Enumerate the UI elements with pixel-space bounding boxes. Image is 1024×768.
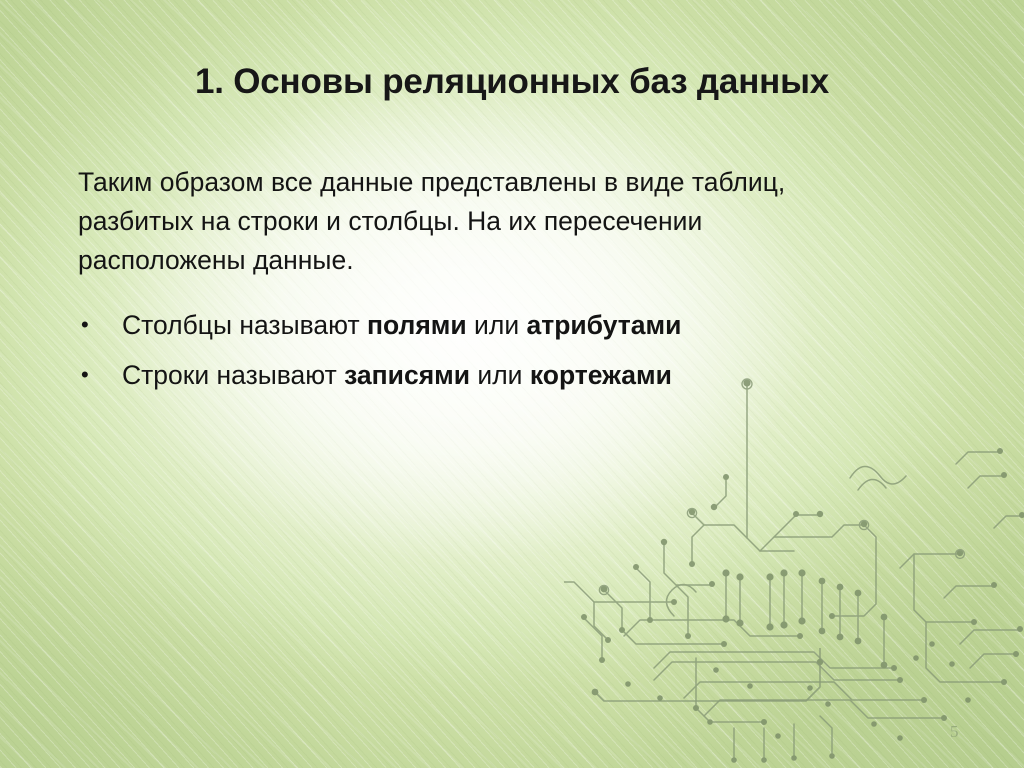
presentation-slide: 1. Основы реляционных баз данных Таким о…	[0, 0, 1024, 768]
body-paragraph: Таким образом все данные представлены в …	[78, 163, 868, 280]
circuit-board-graphic	[564, 368, 1024, 768]
bullet-marker-icon: •	[81, 300, 89, 350]
bullet-item-text: Строки называют записями или кортежами	[122, 360, 672, 390]
slide-title: 1. Основы реляционных баз данных	[64, 62, 960, 102]
slide-body: Таким образом все данные представлены в …	[78, 163, 948, 287]
bullet-item: • Строки называют записями или кортежами	[78, 350, 948, 400]
bullet-list: • Столбцы называют полями или атрибутами…	[78, 300, 948, 400]
bullet-marker-icon: •	[81, 350, 89, 400]
bullet-item: • Столбцы называют полями или атрибутами	[78, 300, 948, 350]
bullet-item-text: Столбцы называют полями или атрибутами	[122, 310, 681, 340]
slide-number: 5	[950, 722, 959, 742]
